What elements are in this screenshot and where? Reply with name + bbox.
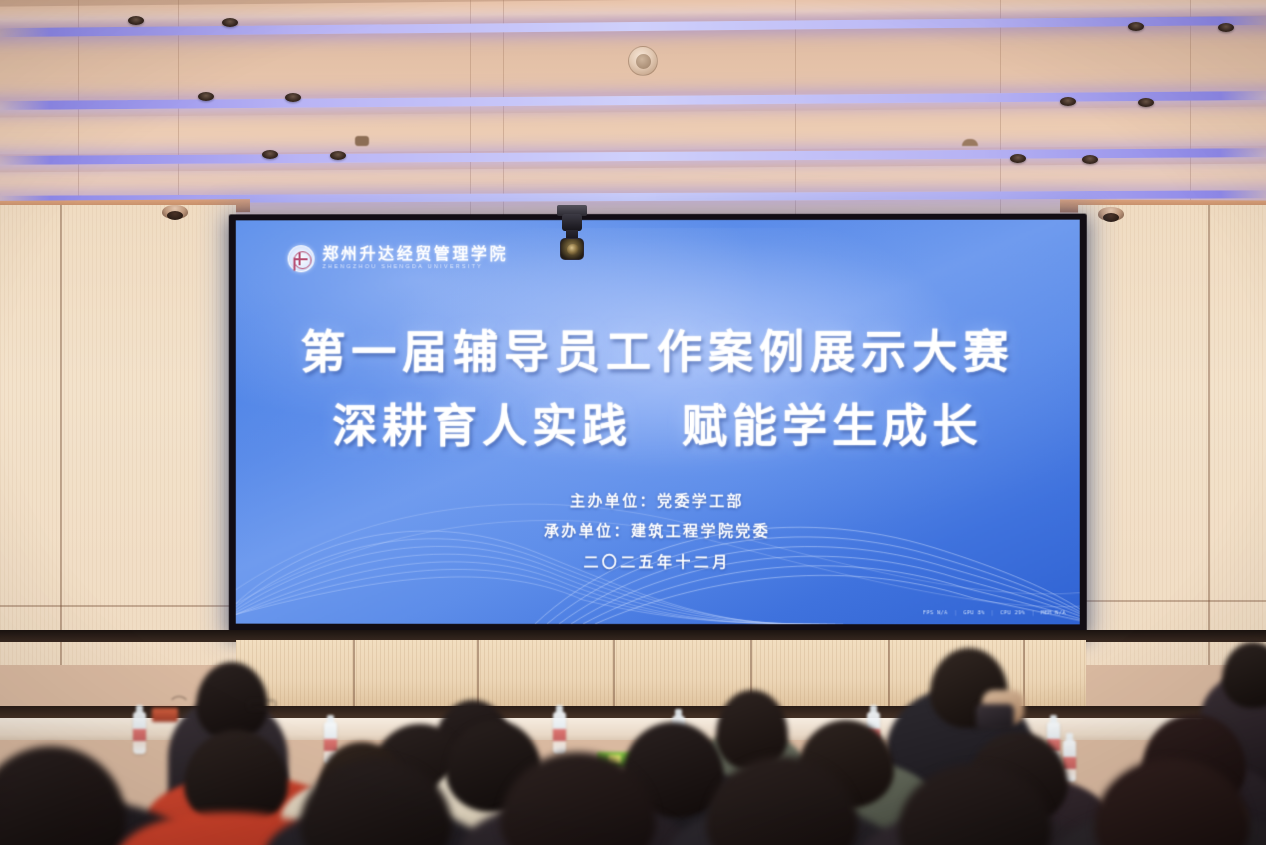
wall-seam	[60, 205, 62, 665]
water-bottle	[553, 712, 566, 754]
camera-lens-icon	[560, 238, 584, 260]
face-mask	[976, 704, 1014, 730]
conference-hall-photo: 郑州升达经贸管理学院 ZHENGZHOU SHENGDA UNIVERSITY …	[0, 0, 1266, 845]
university-emblem-icon	[288, 245, 315, 272]
wall-dome-speaker	[162, 205, 188, 219]
university-name-cn: 郑州升达经贸管理学院	[323, 246, 509, 262]
slide-canvas: 郑州升达经贸管理学院 ZHENGZHOU SHENGDA UNIVERSITY …	[236, 220, 1080, 625]
recessed-spotlight	[1138, 98, 1154, 107]
recessed-spotlight	[1082, 155, 1098, 164]
ceiling-seam	[795, 0, 796, 215]
recessed-spotlight	[128, 16, 144, 25]
water-bottle	[133, 712, 146, 754]
slide-co-organizer: 承办单位：建筑工程学院党委	[236, 520, 1080, 541]
ceiling-sensor	[355, 136, 369, 146]
recessed-spotlight	[1218, 23, 1234, 32]
recessed-spotlight	[198, 92, 214, 101]
recessed-spotlight	[1010, 154, 1026, 163]
wall-panel-left	[0, 205, 236, 665]
ceiling	[0, 0, 1266, 215]
wall-seam	[1208, 205, 1210, 665]
slide-organizer: 主办单位：党委学工部	[236, 490, 1080, 511]
recessed-spotlight	[262, 150, 278, 159]
university-logo-text: 郑州升达经贸管理学院 ZHENGZHOU SHENGDA UNIVERSITY	[323, 246, 509, 271]
university-logo: 郑州升达经贸管理学院 ZHENGZHOU SHENGDA UNIVERSITY	[288, 245, 509, 272]
eyeglasses-icon	[248, 700, 276, 710]
wall-dome-speaker	[1098, 207, 1124, 221]
audience-person-head	[0, 746, 126, 845]
slide-subtitle: 深耕育人实践 赋能学生成长	[236, 390, 1080, 455]
university-name-en: ZHENGZHOU SHENGDA UNIVERSITY	[323, 265, 509, 271]
recessed-spotlight	[222, 18, 238, 27]
audience-area	[0, 600, 1266, 845]
recessed-spotlight	[330, 151, 346, 160]
recessed-spotlight	[1128, 22, 1144, 31]
slide-date: 二〇二五年十二月	[236, 551, 1080, 573]
emblem-crossbar	[295, 258, 308, 260]
ceiling-speaker	[628, 46, 658, 76]
led-display-screen[interactable]: 郑州升达经贸管理学院 ZHENGZHOU SHENGDA UNIVERSITY …	[229, 214, 1087, 633]
ceiling-sensor	[962, 139, 978, 146]
recessed-spotlight	[285, 93, 301, 102]
ceiling-seam	[1000, 0, 1001, 215]
ceiling-camera	[562, 214, 582, 231]
ceiling-seam	[1190, 0, 1191, 215]
audience-person-head	[1222, 642, 1266, 708]
recessed-spotlight	[1060, 97, 1076, 106]
wall-panel-right	[1078, 205, 1266, 665]
slide-title: 第一届辅导员工作案例展示大赛	[236, 316, 1080, 381]
